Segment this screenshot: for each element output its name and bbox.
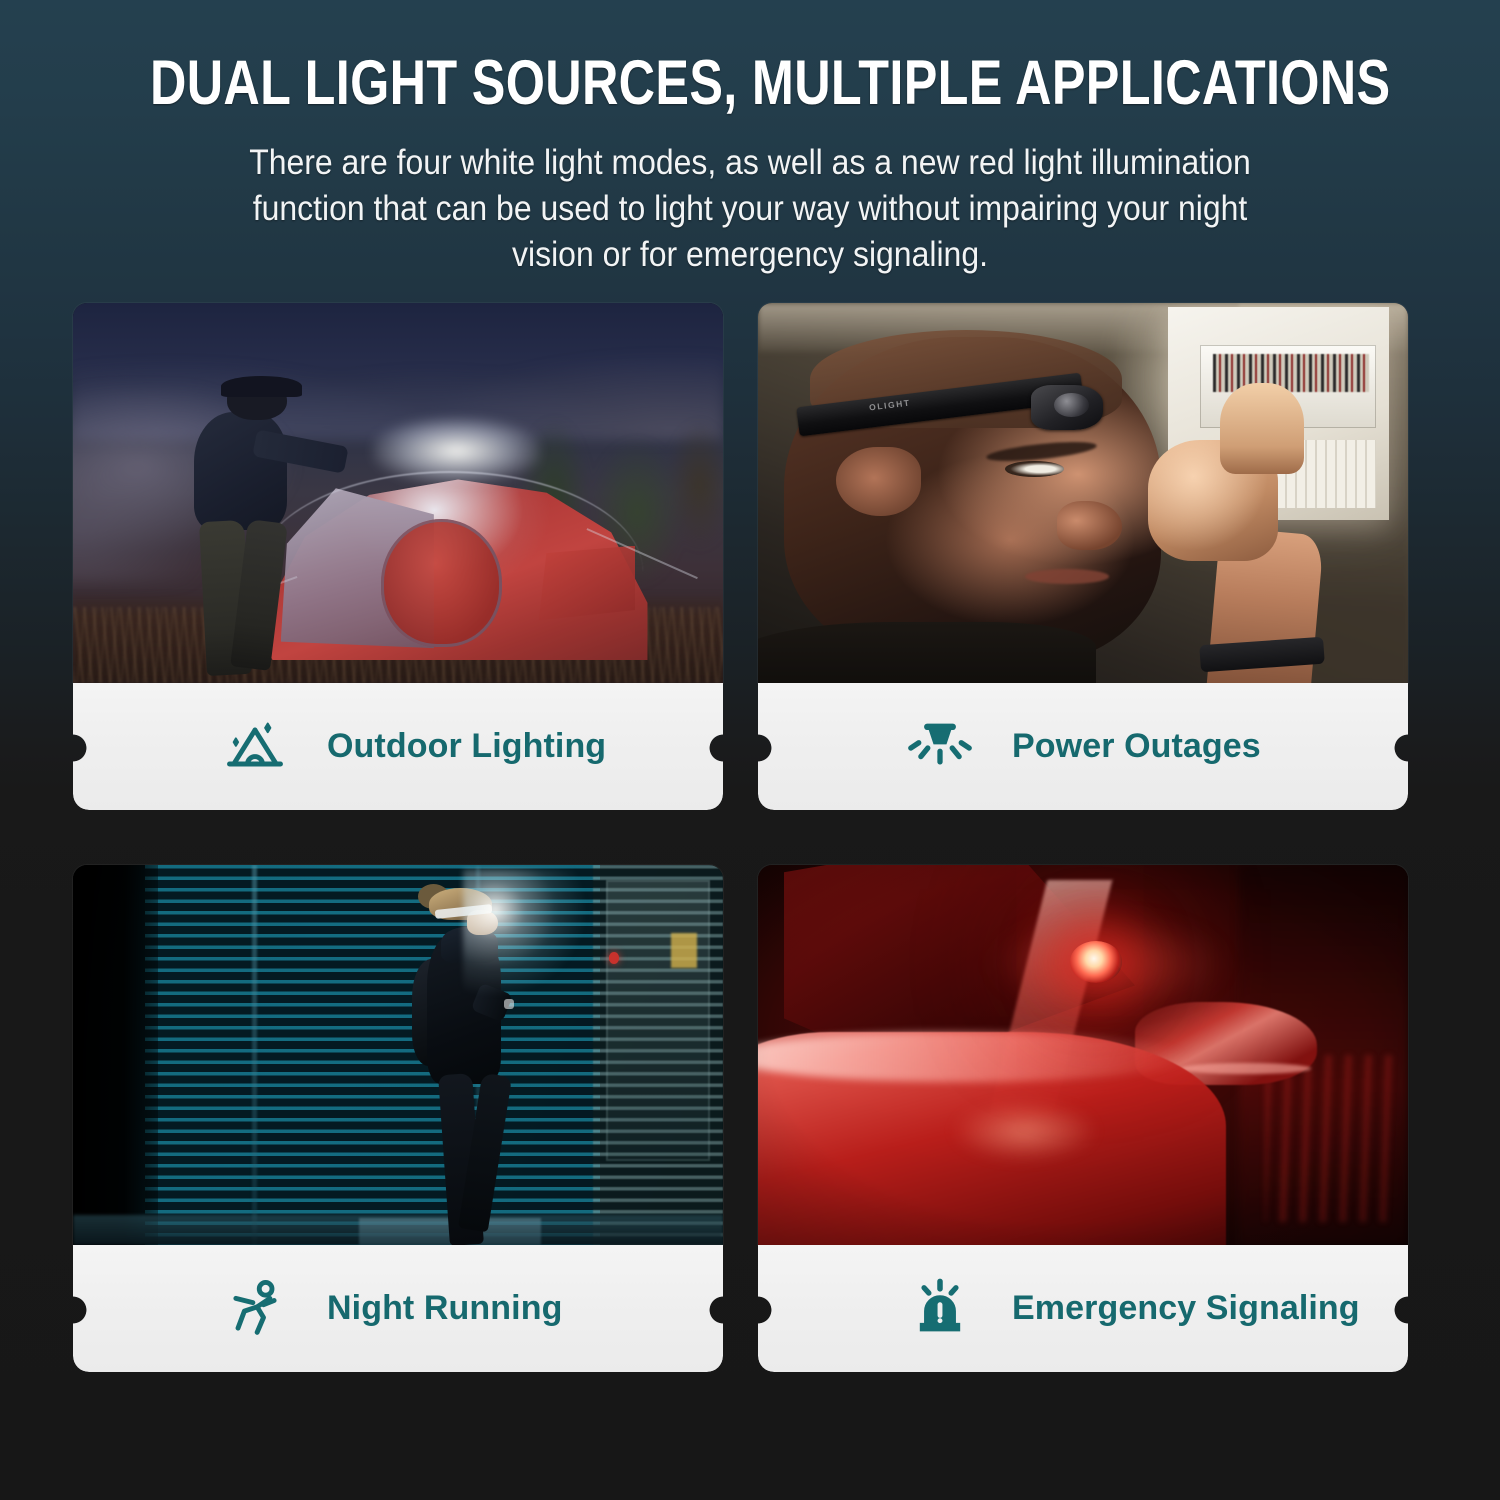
card-label-text: Outdoor Lighting [327,727,606,766]
application-card: OLIGHT [758,303,1408,810]
application-card: Night Running [73,865,723,1372]
card-label-text: Power Outages [1012,727,1261,766]
card-label-text: Emergency Signaling [1012,1289,1360,1328]
tent-icon [221,713,289,781]
card-label-panel: Night Running [73,1245,723,1372]
running-person-icon [221,1275,289,1343]
card-label-panel: Emergency Signaling [758,1245,1408,1372]
page-title: DUAL LIGHT SOURCES, MULTIPLE APPLICATION… [150,52,1350,115]
application-card: Emergency Signaling [758,865,1408,1372]
card-photo-redcar [758,865,1408,1245]
card-label-text: Night Running [327,1289,562,1328]
ceiling-lamp-icon [906,713,974,781]
subtitle-line-2: function that can be used to light your … [228,185,1272,231]
product-feature-panel: DUAL LIGHT SOURCES, MULTIPLE APPLICATION… [0,0,1500,1500]
header: DUAL LIGHT SOURCES, MULTIPLE APPLICATION… [0,0,1500,277]
application-card: Outdoor Lighting [73,303,723,810]
siren-alert-icon [906,1275,974,1343]
application-card-grid: Outdoor Lighting [73,303,1408,1372]
card-photo-running [73,865,723,1245]
card-photo-camping [73,303,723,683]
card-photo-breaker: OLIGHT [758,303,1408,683]
subtitle-line-3: vision or for emergency signaling. [228,231,1272,277]
subtitle-line-1: There are four white light modes, as wel… [228,139,1272,185]
card-label-panel: Power Outages [758,683,1408,810]
page-subtitle: There are four white light modes, as wel… [228,139,1272,277]
card-label-panel: Outdoor Lighting [73,683,723,810]
